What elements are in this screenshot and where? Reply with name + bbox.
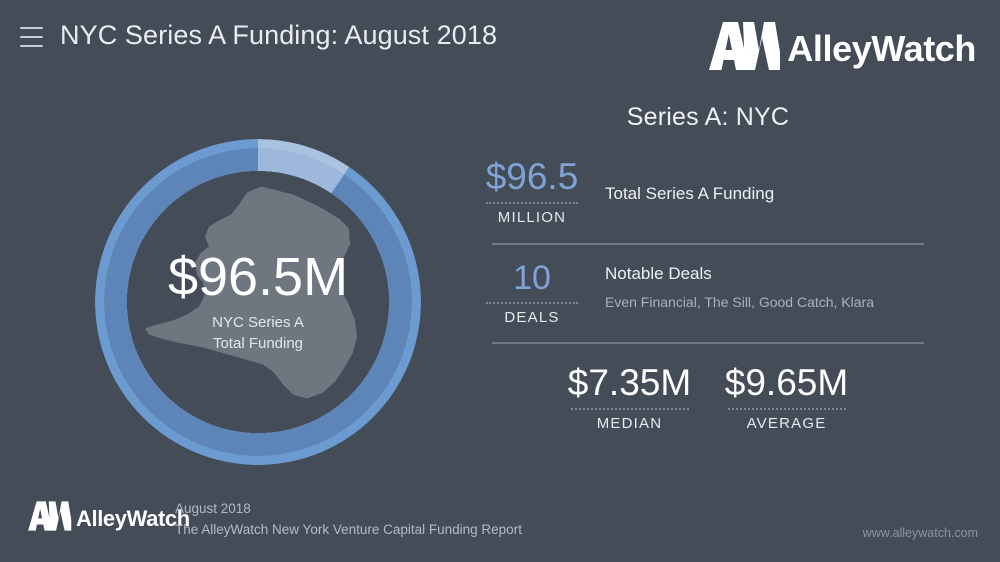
average-value: $9.65M (719, 364, 854, 401)
hamburger-bar (20, 36, 43, 38)
alleywatch-logo-footer[interactable]: AlleyWatch (28, 499, 190, 538)
total-funding-donut-chart: $96.5M NYC Series A Total Funding (95, 139, 421, 465)
total-funding-unit: MILLION (484, 209, 580, 226)
deals-count-value: 10 (484, 261, 580, 295)
notable-deals-description: Notable Deals Even Financial, The Sill, … (605, 261, 874, 310)
donut-center-label: $96.5M NYC Series A Total Funding (95, 249, 421, 355)
total-funding-metric: $96.5 MILLION (484, 158, 580, 226)
dotted-underline (571, 408, 689, 410)
notable-deals-title: Notable Deals (605, 264, 874, 284)
donut-caption-line1: NYC Series A (95, 312, 421, 334)
footer-url[interactable]: www.alleywatch.com (863, 526, 978, 540)
footer-report-title: The AlleyWatch New York Venture Capital … (175, 520, 522, 541)
median-average-row: $7.35M MEDIAN $9.65M AVERAGE (478, 364, 938, 432)
average-label: AVERAGE (719, 415, 854, 432)
deals-count-unit: DEALS (484, 309, 580, 326)
average-metric: $9.65M AVERAGE (719, 364, 854, 432)
page-title: NYC Series A Funding: August 2018 (60, 20, 497, 51)
panel-divider (492, 243, 924, 245)
alleywatch-wordmark: AlleyWatch (787, 28, 976, 70)
hamburger-bar (20, 27, 43, 29)
notable-deals-row: 10 DEALS Notable Deals Even Financial, T… (478, 261, 938, 326)
donut-value: $96.5M (95, 249, 421, 306)
aw-monogram-icon (709, 18, 781, 79)
dotted-underline (728, 408, 846, 410)
stats-panel: Series A: NYC $96.5 MILLION Total Series… (478, 103, 938, 432)
footer-date: August 2018 (175, 499, 522, 520)
total-funding-row: $96.5 MILLION Total Series A Funding (478, 158, 938, 226)
aw-monogram-icon (28, 499, 72, 538)
dotted-underline (486, 202, 578, 204)
median-label: MEDIAN (562, 415, 697, 432)
infographic-slide: NYC Series A Funding: August 2018 AlleyW… (0, 0, 1000, 562)
panel-divider (492, 342, 924, 344)
dotted-underline (486, 302, 578, 304)
donut-caption: NYC Series A Total Funding (95, 312, 421, 356)
panel-heading: Series A: NYC (478, 103, 938, 132)
notable-deals-companies: Even Financial, The Sill, Good Catch, Kl… (605, 294, 874, 310)
total-funding-title: Total Series A Funding (605, 184, 774, 204)
total-funding-description: Total Series A Funding (605, 158, 774, 204)
alleywatch-wordmark: AlleyWatch (76, 506, 190, 532)
total-funding-value: $96.5 (484, 158, 580, 195)
footer-text: August 2018 The AlleyWatch New York Vent… (175, 499, 522, 541)
deals-count-metric: 10 DEALS (484, 261, 580, 326)
alleywatch-logo-header[interactable]: AlleyWatch (709, 18, 976, 79)
median-metric: $7.35M MEDIAN (562, 364, 697, 432)
hamburger-menu-icon[interactable] (20, 27, 43, 47)
hamburger-bar (20, 45, 43, 47)
median-value: $7.35M (562, 364, 697, 401)
donut-caption-line2: Total Funding (95, 333, 421, 355)
